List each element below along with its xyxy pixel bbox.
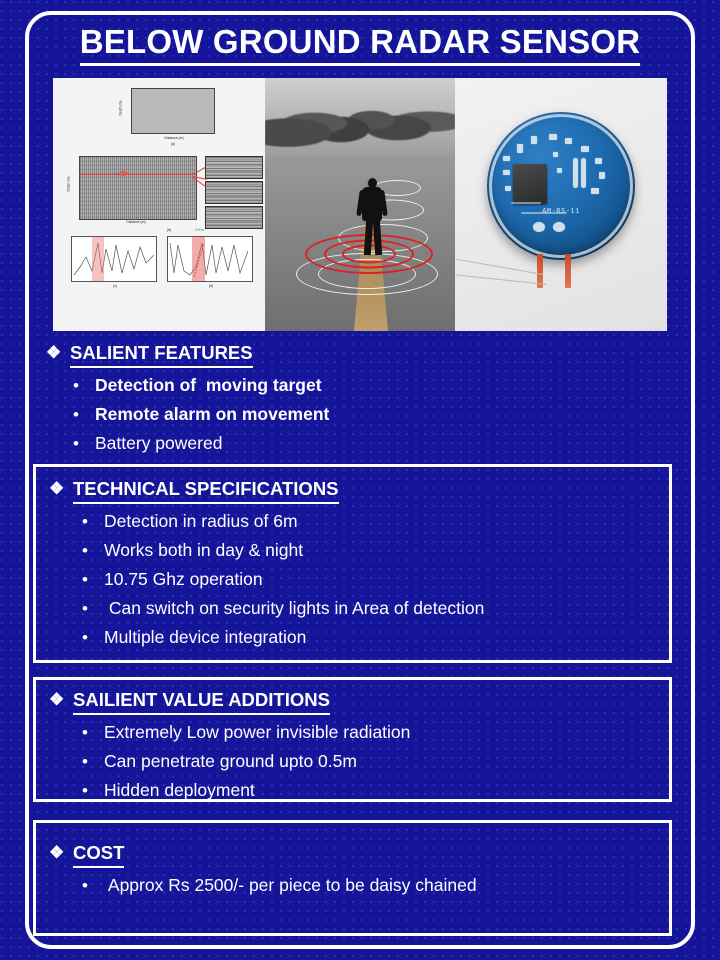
- pcb-mount-hole: [533, 222, 545, 232]
- list-item-label: Can penetrate ground upto 0.5m: [104, 747, 357, 776]
- gpr-d-trace: [168, 237, 252, 281]
- technical-spec-list: • Detection in radius of 6m • Works both…: [36, 504, 669, 652]
- bullet-icon: •: [82, 565, 104, 594]
- pcb-trace: [511, 202, 541, 204]
- list-item: • Detection in radius of 6m: [36, 507, 669, 536]
- field-detection-photo: [265, 78, 455, 331]
- list-item: • Can switch on security lights in Area …: [36, 594, 669, 623]
- section-heading-text: SAILIENT VALUE ADDITIONS: [73, 688, 330, 715]
- field-treeline: [265, 78, 455, 156]
- pcb-component: [517, 144, 523, 153]
- radar-pcb-photo: AM-RS-11: [455, 78, 667, 331]
- page-title: BELOW GROUND RADAR SENSOR: [60, 22, 660, 62]
- section-heading: ❖ SAILIENT VALUE ADDITIONS: [36, 688, 669, 715]
- gpr-horizon-line: [79, 174, 195, 175]
- feature-list: • Detection of moving target • Remote al…: [33, 368, 672, 458]
- gpr-inset-3: [205, 206, 263, 229]
- list-item: • Approx Rs 2500/- per piece to be daisy…: [36, 871, 669, 900]
- pcb-antenna-pad: [573, 158, 578, 188]
- gpr-a-xlabel: Distance (m): [151, 136, 197, 140]
- pcb-component: [531, 136, 537, 144]
- gpr-b-ylabel: Depth (m): [67, 176, 71, 191]
- list-item-label: Approx Rs 2500/- per piece to be daisy c…: [104, 871, 477, 900]
- bullet-icon: •: [82, 718, 104, 747]
- value-addition-list: • Extremely Low power invisible radiatio…: [36, 715, 669, 805]
- person-leg-right: [373, 219, 382, 255]
- gpr-d-highlight-band: [192, 237, 205, 281]
- gpr-subplot-a-axes: [131, 88, 215, 134]
- list-item: • Extremely Low power invisible radiatio…: [36, 718, 669, 747]
- gpr-inset-1: [205, 156, 263, 179]
- pcb-lead-right: [565, 254, 571, 288]
- list-item: • Multiple device integration: [36, 623, 669, 652]
- pcb-mount-hole: [553, 222, 565, 232]
- list-item-label: 10.75 Ghz operation: [104, 565, 263, 594]
- list-item: • Remote alarm on movement: [33, 400, 672, 429]
- gpr-subplot-d-phase: [167, 236, 253, 282]
- gpr-a-ylabel: Depth (m): [119, 100, 123, 115]
- list-item: • Can penetrate ground upto 0.5m: [36, 747, 669, 776]
- gpr-b-caption: (b): [159, 228, 179, 232]
- pcb-component: [591, 188, 599, 194]
- gpr-analysis-figure: Depth (m) Distance (m) (a) Depth (m) Dis…: [53, 78, 265, 331]
- diamond-bullet-icon: ❖: [49, 477, 73, 501]
- section-cost: ❖ COST • Approx Rs 2500/- per piece to b…: [33, 820, 672, 936]
- bullet-icon: •: [82, 623, 104, 652]
- section-salient-features: ❖ SALIENT FEATURES • Detection of moving…: [33, 341, 672, 458]
- section-heading-text: SALIENT FEATURES: [70, 341, 253, 368]
- figure-strip: Depth (m) Distance (m) (a) Depth (m) Dis…: [53, 78, 667, 331]
- bullet-icon: •: [82, 776, 104, 805]
- gpr-subplot-b-radargram: [79, 156, 197, 220]
- diamond-bullet-icon: ❖: [49, 688, 73, 712]
- cost-list: • Approx Rs 2500/- per piece to be daisy…: [36, 868, 669, 900]
- page-title-text: BELOW GROUND RADAR SENSOR: [80, 23, 641, 66]
- pcb-antenna-pad: [581, 158, 586, 188]
- section-technical-specifications: ❖ TECHNICAL SPECIFICATIONS • Detection i…: [33, 464, 672, 663]
- bullet-icon: •: [82, 507, 104, 536]
- slide-canvas: BELOW GROUND RADAR SENSOR Depth (m) Dist…: [0, 0, 720, 960]
- list-item-label: Hidden deployment: [104, 776, 255, 805]
- diamond-bullet-icon: ❖: [46, 341, 70, 365]
- bullet-icon: •: [82, 871, 104, 900]
- gpr-c-caption: (c): [95, 284, 135, 288]
- pcb-component: [557, 168, 562, 173]
- gpr-a-caption: (a): [163, 142, 183, 146]
- pcb-main-ic: [513, 164, 547, 204]
- person-leg-left: [364, 219, 373, 255]
- walking-person-silhouette: [357, 178, 387, 256]
- gpr-inset-2: [205, 181, 263, 204]
- gpr-c-highlight-band: [92, 237, 104, 281]
- bullet-icon: •: [82, 747, 104, 776]
- bullet-icon: •: [73, 371, 95, 400]
- list-item-label: Battery powered: [95, 429, 222, 458]
- section-heading: ❖ COST: [36, 841, 669, 868]
- list-item-label: Extremely Low power invisible radiation: [104, 718, 410, 747]
- list-item-label: Can switch on security lights in Area of…: [104, 594, 484, 623]
- list-item: • 10.75 Ghz operation: [36, 565, 669, 594]
- bullet-icon: •: [82, 594, 104, 623]
- pcb-component: [503, 170, 510, 175]
- gpr-d-caption: (d): [191, 284, 231, 288]
- list-item-label: Detection in radius of 6m: [104, 507, 298, 536]
- gpr-c-trace: [72, 237, 156, 281]
- pcb-board: AM-RS-11: [487, 112, 635, 260]
- section-heading: ❖ SALIENT FEATURES: [33, 341, 672, 368]
- gpr-d-annotation: ~0.5 m: [179, 228, 219, 232]
- section-value-additions: ❖ SAILIENT VALUE ADDITIONS • Extremely L…: [33, 677, 672, 802]
- pcb-component: [549, 134, 557, 140]
- pcb-component: [505, 186, 511, 191]
- list-item-label: Multiple device integration: [104, 623, 306, 652]
- list-item-label: Detection of moving target: [95, 371, 322, 400]
- list-item-label: Remote alarm on movement: [95, 400, 329, 429]
- pcb-component: [595, 158, 602, 164]
- list-item: • Battery powered: [33, 429, 672, 458]
- pcb-component: [503, 156, 510, 161]
- gpr-subplot-c-phase: [71, 236, 157, 282]
- section-heading-text: COST: [73, 841, 124, 868]
- bullet-icon: •: [73, 429, 95, 458]
- pcb-component: [553, 152, 558, 157]
- list-item: • Detection of moving target: [33, 371, 672, 400]
- list-item: • Works both in day & night: [36, 536, 669, 565]
- gpr-b-xlabel: Distance (m): [113, 220, 159, 224]
- pcb-component: [599, 172, 605, 179]
- list-item-label: Works both in day & night: [104, 536, 303, 565]
- pcb-board-marking: AM-RS-11: [542, 208, 580, 216]
- section-heading: ❖ TECHNICAL SPECIFICATIONS: [36, 477, 669, 504]
- bullet-icon: •: [73, 400, 95, 429]
- diamond-bullet-icon: ❖: [49, 841, 73, 865]
- gpr-target-marker: [119, 171, 128, 176]
- list-item: • Hidden deployment: [36, 776, 669, 805]
- pcb-component: [565, 138, 572, 144]
- section-heading-text: TECHNICAL SPECIFICATIONS: [73, 477, 339, 504]
- bullet-icon: •: [82, 536, 104, 565]
- pcb-component: [581, 146, 589, 152]
